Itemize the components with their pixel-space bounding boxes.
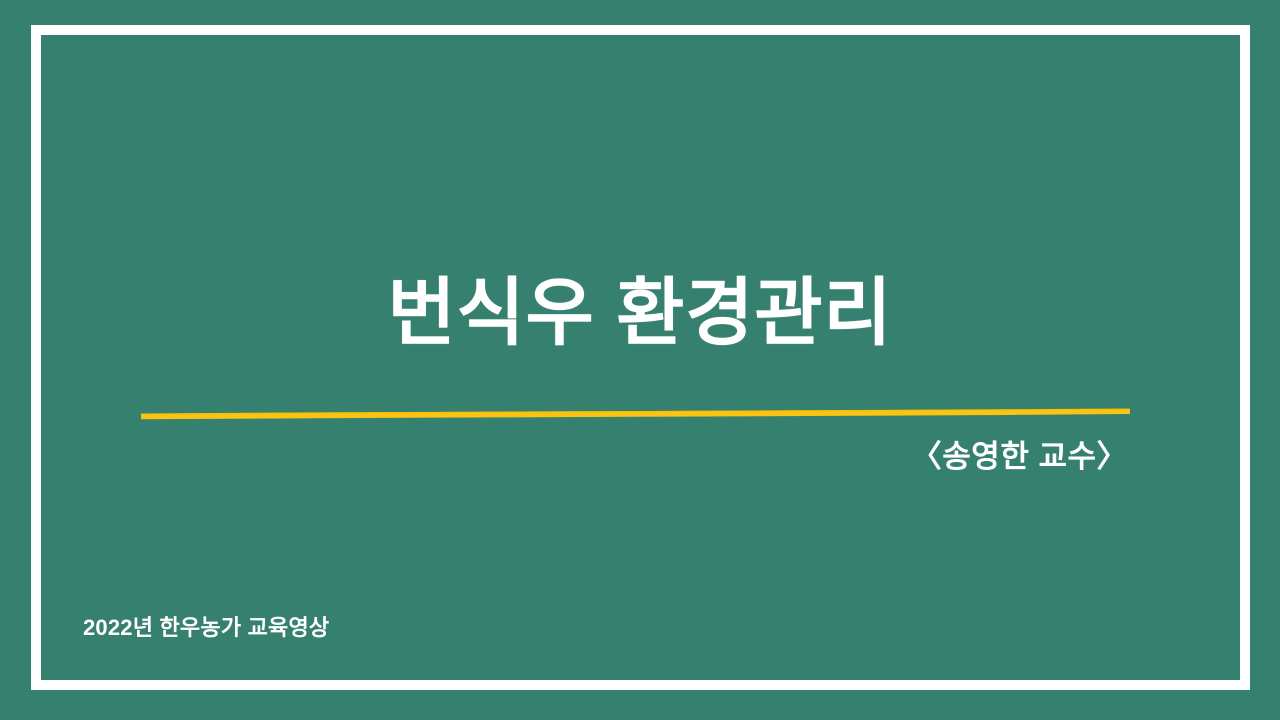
slide-footer-caption: 2022년 한우농가 교육영상 [83,610,329,642]
slide-border-frame [31,25,1250,690]
gold-underline-divider [138,396,1133,422]
presenter-name: 〈송영한 교수〉 [911,431,1128,476]
title-slide: 번식우 환경관리 〈송영한 교수〉 2022년 한우농가 교육영상 [0,0,1280,720]
underline-stroke-icon [138,396,1133,422]
page-title: 번식우 환경관리 [0,272,1280,355]
